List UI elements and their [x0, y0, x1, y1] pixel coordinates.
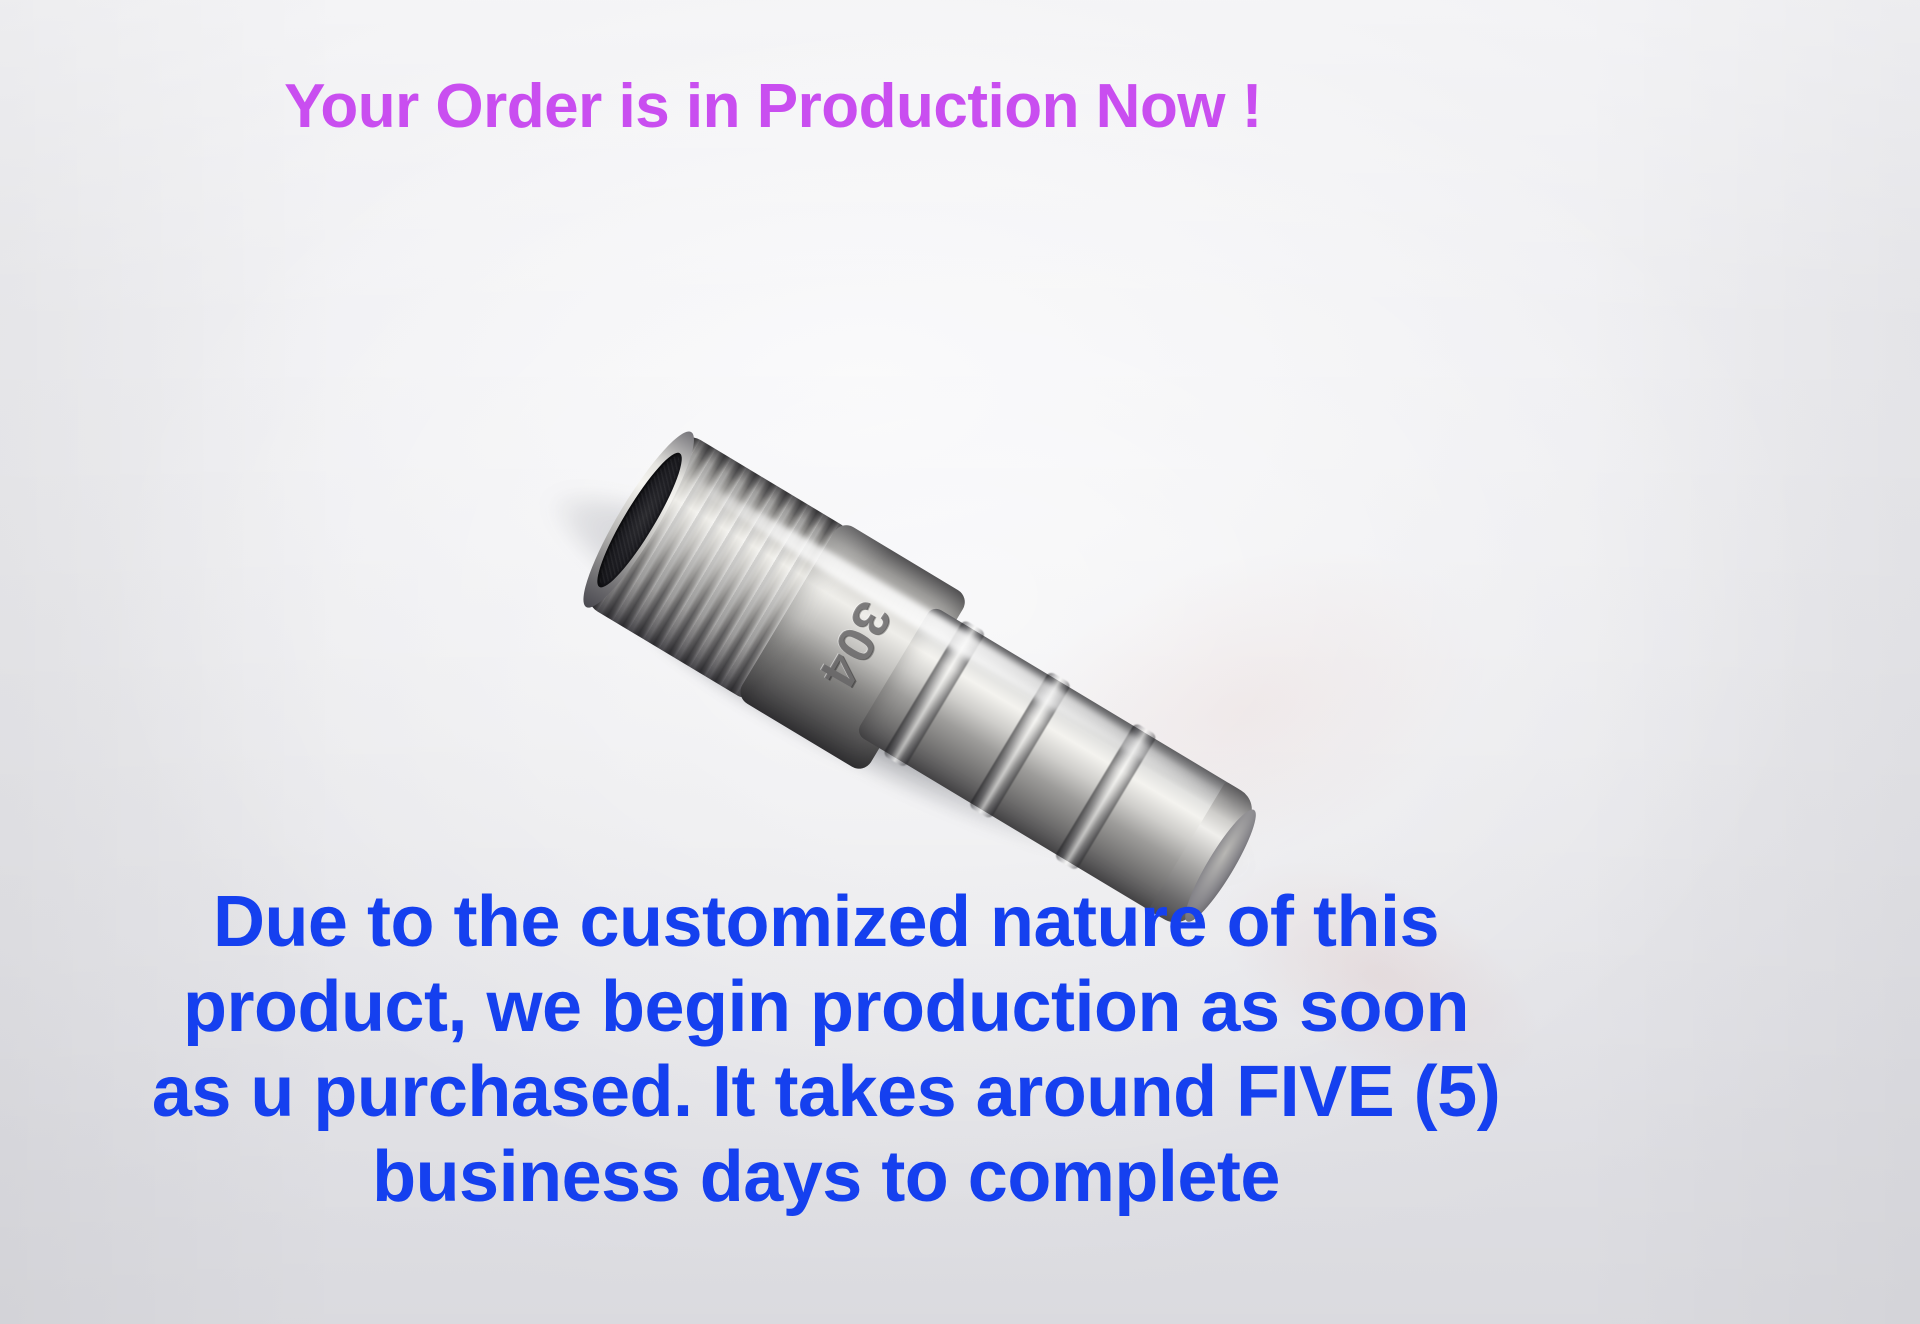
body-copy-line: Due to the customized nature of this — [96, 880, 1556, 965]
headline-text: Your Order is in Production Now ! — [0, 76, 1546, 138]
promo-image-canvas: 304 Your Order is in Production Now ! Du… — [0, 0, 1920, 1324]
body-copy-line: product, we begin production as soon — [96, 965, 1556, 1050]
body-copy-text: Due to the customized nature of this pro… — [96, 880, 1556, 1220]
body-copy-line: as u purchased. It takes around FIVE (5) — [96, 1050, 1556, 1135]
body-copy-line: business days to complete — [96, 1135, 1556, 1220]
